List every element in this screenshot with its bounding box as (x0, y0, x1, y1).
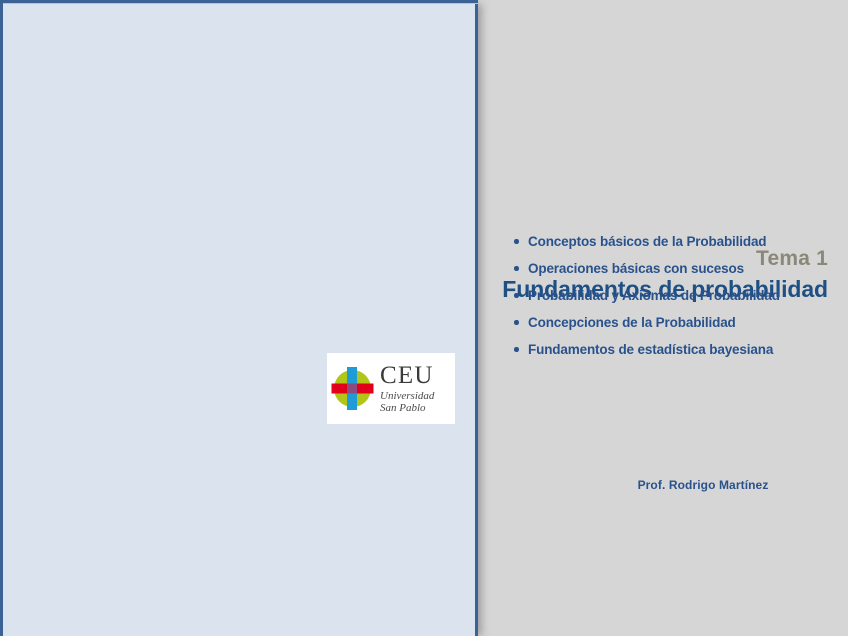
bullet-icon (514, 347, 519, 352)
list-item: Fundamentos de estadística bayesiana (512, 336, 842, 363)
presentation-slide: Tema 1 Fundamentos de probabilidad CEU U… (0, 0, 848, 636)
list-item-label: Probabilidad y Axiomas de Probabilidad (528, 288, 780, 303)
logo-wordmark-text: CEU (380, 363, 434, 388)
list-item: Operaciones básicas con sucesos (512, 255, 842, 282)
bullet-icon (514, 239, 519, 244)
logo-wordmark: CEU Universidad San Pablo (380, 363, 434, 415)
ceu-emblem-icon (331, 366, 376, 411)
list-item: Conceptos básicos de la Probabilidad (512, 228, 842, 255)
bullet-icon (514, 293, 519, 298)
list-item-label: Operaciones básicas con sucesos (528, 261, 744, 276)
bullet-icon (514, 320, 519, 325)
bullet-icon (514, 266, 519, 271)
list-item-label: Fundamentos de estadística bayesiana (528, 342, 773, 357)
list-item: Concepciones de la Probabilidad (512, 309, 842, 336)
institution-logo: CEU Universidad San Pablo (327, 353, 455, 424)
list-item-label: Conceptos básicos de la Probabilidad (528, 234, 766, 249)
title-panel (0, 0, 478, 636)
list-item-label: Concepciones de la Probabilidad (528, 315, 736, 330)
agenda-list: Conceptos básicos de la Probabilidad Ope… (512, 228, 842, 363)
author-byline: Prof. Rodrigo Martínez (596, 478, 810, 492)
logo-subtitle-line1: Universidad (380, 390, 434, 403)
logo-subtitle-line2: San Pablo (380, 402, 434, 415)
panel-top-hairline (3, 3, 481, 4)
list-item: Probabilidad y Axiomas de Probabilidad (512, 282, 842, 309)
